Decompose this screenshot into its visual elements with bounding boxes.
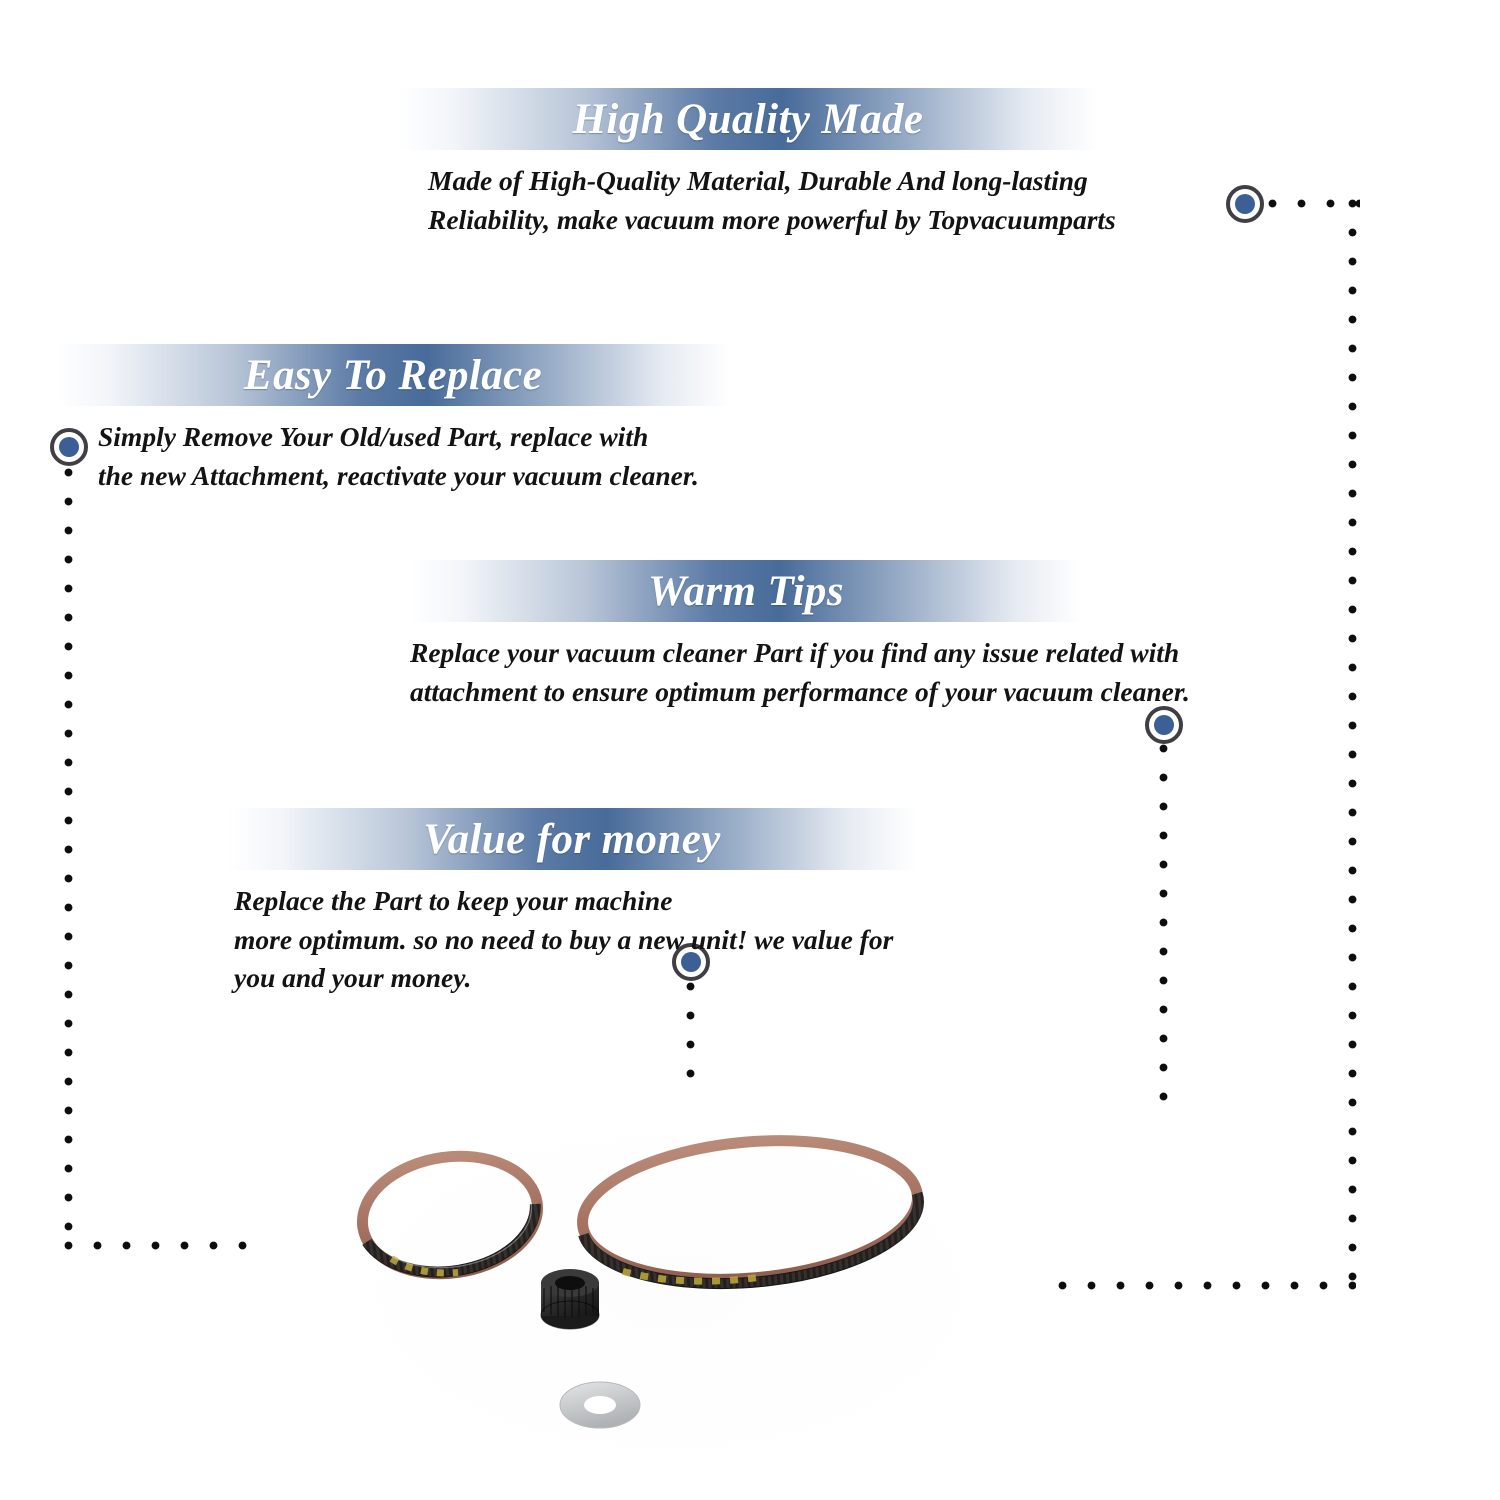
feature-block-value-money: Value for money Replace the Part to keep… — [228, 808, 916, 998]
feature-body-line: Reliability, make vacuum more powerful b… — [428, 201, 1098, 240]
feature-title-bar-high-quality: High Quality Made — [398, 88, 1098, 150]
feature-body-easy-replace: Simply Remove Your Old/used Part, replac… — [98, 418, 730, 495]
feature-body-line: Replace the Part to keep your machine — [234, 882, 916, 921]
connector-high-quality-vertical-right — [1348, 199, 1357, 1289]
feature-body-line: you and your money. — [234, 959, 916, 998]
feature-body-line: more optimum. so no need to buy a new un… — [234, 921, 916, 960]
feature-body-line: Made of High-Quality Material, Durable A… — [428, 162, 1098, 201]
feature-block-easy-replace: Easy To Replace Simply Remove Your Old/u… — [56, 344, 730, 495]
feature-title-value-money: Value for money — [423, 815, 720, 864]
flat-washer — [560, 1382, 640, 1428]
connector-value-money-vertical — [686, 982, 695, 1094]
feature-body-line: Replace your vacuum cleaner Part if you … — [410, 634, 1082, 673]
feature-body-value-money: Replace the Part to keep your machine mo… — [234, 882, 916, 998]
large-drive-belt — [577, 1128, 925, 1297]
marker-warm-tips — [1145, 706, 1183, 744]
small-drive-belt — [355, 1145, 545, 1284]
feature-title-bar-easy-replace: Easy To Replace — [56, 344, 730, 406]
feature-title-warm-tips: Warm Tips — [648, 567, 844, 616]
feature-body-line: Simply Remove Your Old/used Part, replac… — [98, 418, 730, 457]
feature-title-bar-warm-tips: Warm Tips — [410, 560, 1082, 622]
feature-body-line: the new Attachment, reactivate your vacu… — [98, 457, 730, 496]
feature-body-warm-tips: Replace your vacuum cleaner Part if you … — [410, 634, 1082, 711]
connector-easy-replace-vertical-left — [64, 468, 73, 1250]
connector-high-quality-horizontal-top — [1268, 199, 1360, 208]
marker-high-quality-core — [1235, 194, 1255, 214]
product-photo — [330, 1120, 1010, 1490]
marker-high-quality — [1226, 185, 1264, 223]
feature-body-high-quality: Made of High-Quality Material, Durable A… — [428, 162, 1098, 239]
product-infographic: High Quality Made Made of High-Quality M… — [0, 0, 1500, 1500]
feature-title-high-quality: High Quality Made — [573, 95, 924, 144]
connector-high-quality-horizontal-bottom — [1000, 1281, 1356, 1290]
connector-easy-replace-horizontal-bottom — [64, 1241, 264, 1250]
feature-title-bar-value-money: Value for money — [228, 808, 916, 870]
feature-body-line: attachment to ensure optimum performance… — [410, 673, 1082, 712]
feature-block-warm-tips: Warm Tips Replace your vacuum cleaner Pa… — [410, 560, 1082, 711]
connector-warm-tips-vertical — [1159, 744, 1168, 1104]
marker-warm-tips-core — [1154, 715, 1174, 735]
feature-title-easy-replace: Easy To Replace — [244, 351, 542, 400]
feature-block-high-quality: High Quality Made Made of High-Quality M… — [398, 88, 1098, 239]
gear-pulley — [541, 1269, 599, 1329]
